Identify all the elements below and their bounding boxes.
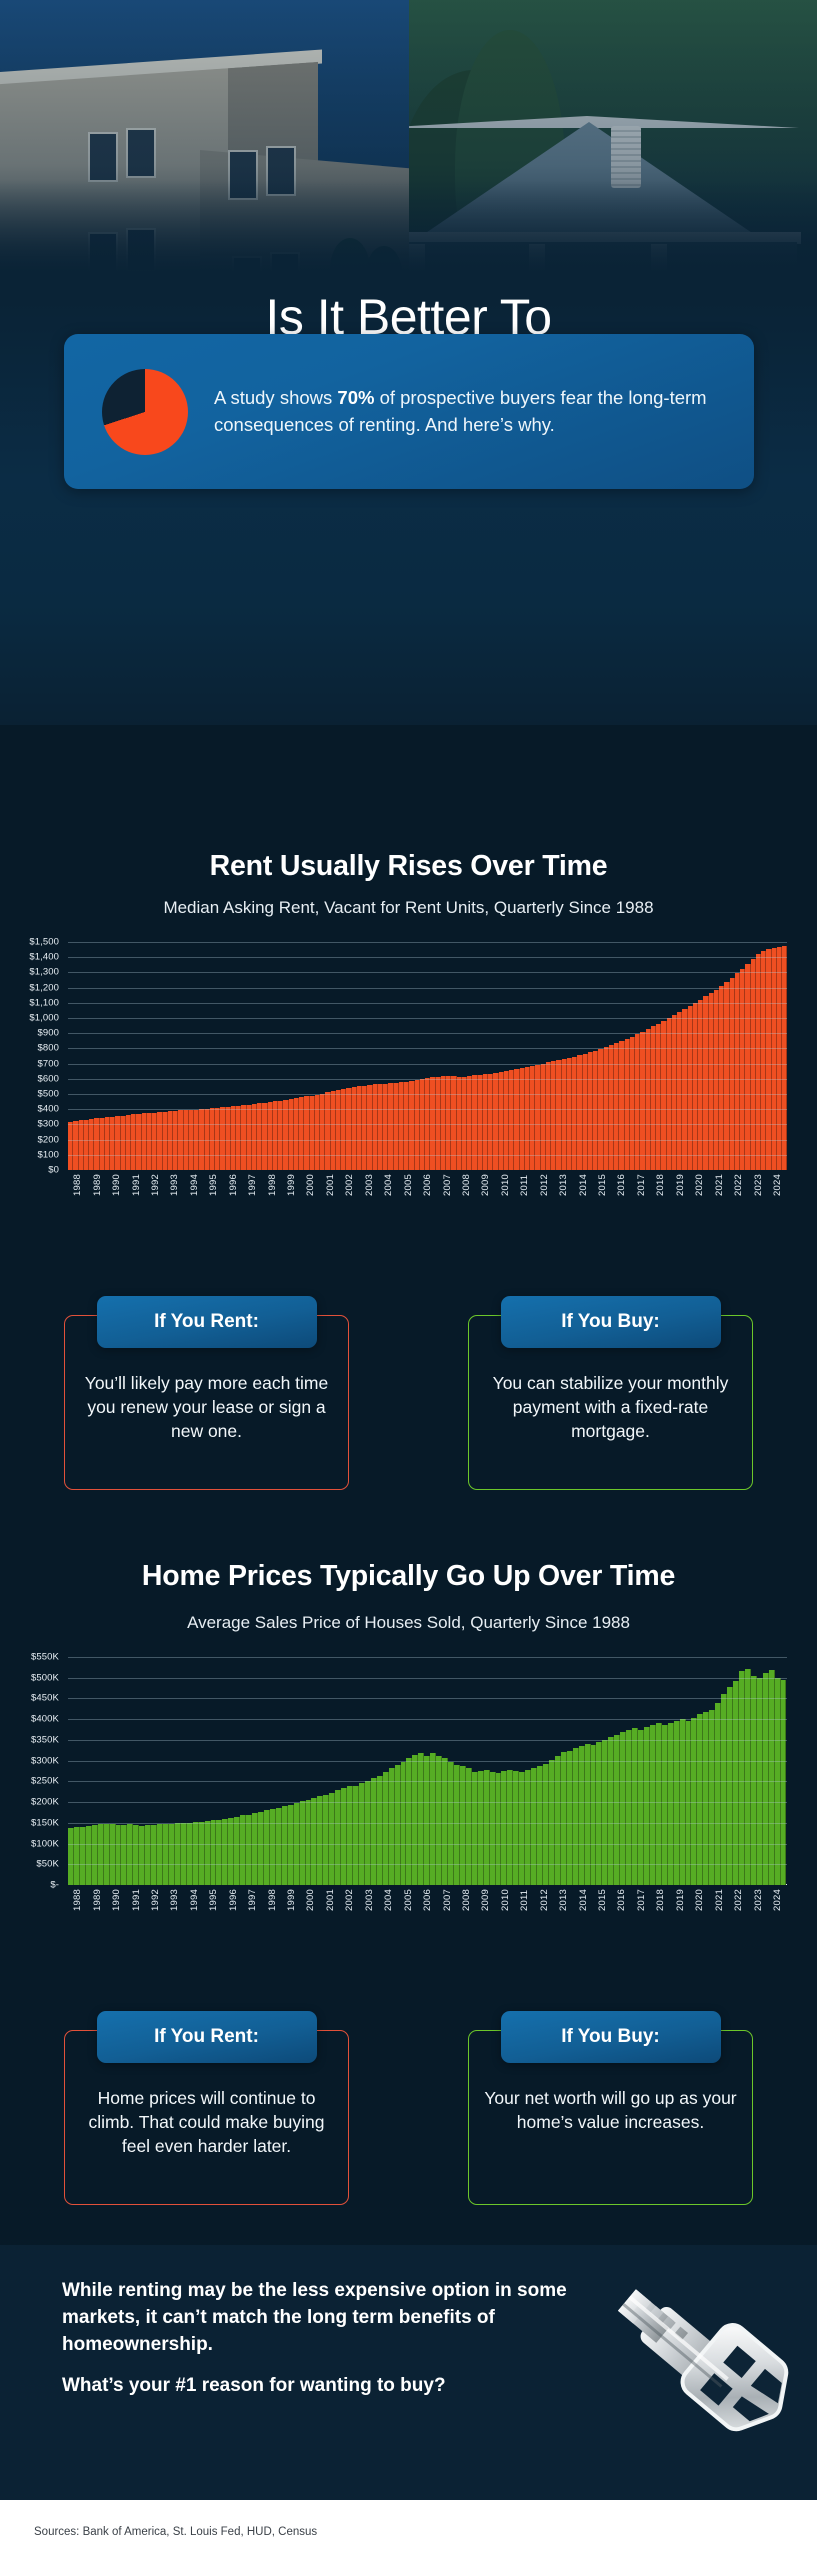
sources-text: Sources: Bank of America, St. Louis Fed,… xyxy=(34,2526,317,2538)
x-axis-tick: 2019 xyxy=(671,1889,690,1911)
x-axis-label: 1989 xyxy=(92,1174,103,1196)
callout-text: A study shows 70% of prospective buyers … xyxy=(214,385,716,438)
x-axis-label: 2000 xyxy=(305,1174,316,1196)
x-axis-tick: 2007 xyxy=(437,1889,456,1911)
x-axis-tick: 1997 xyxy=(243,1889,262,1911)
x-axis-tick: 2002 xyxy=(340,1889,359,1911)
x-axis-tick: 1998 xyxy=(262,1889,281,1911)
x-axis-tick: 1995 xyxy=(204,1889,223,1911)
x-axis-tick: 2010 xyxy=(496,1889,515,1911)
x-axis-label: 1999 xyxy=(286,1174,297,1196)
x-axis-tick: 1991 xyxy=(126,1174,145,1196)
x-axis-tick: 2001 xyxy=(321,1889,340,1911)
y-axis-label: $150K xyxy=(31,1817,59,1828)
x-axis-label: 1992 xyxy=(150,1174,161,1196)
x-axis-label: 2012 xyxy=(539,1174,550,1196)
gridline xyxy=(68,972,787,973)
x-axis-tick: 2013 xyxy=(554,1174,573,1196)
gridline xyxy=(68,1761,787,1762)
y-axis-label: $250K xyxy=(31,1776,59,1787)
x-axis-tick: 1999 xyxy=(282,1889,301,1911)
section-1-buy-heading: If You Buy: xyxy=(501,1296,721,1348)
chart-bar xyxy=(782,946,787,1170)
x-axis-tick: 1994 xyxy=(185,1889,204,1911)
callout-highlight: 70% xyxy=(337,387,374,408)
gridline xyxy=(68,1124,787,1125)
gridline xyxy=(68,1802,787,1803)
x-axis-label: 2016 xyxy=(616,1889,627,1911)
x-axis-label: 2007 xyxy=(442,1889,453,1911)
y-axis-label: $200 xyxy=(37,1134,59,1145)
x-axis-label: 2014 xyxy=(578,1174,589,1196)
house-key-icon xyxy=(590,2245,817,2495)
x-axis-tick: 2005 xyxy=(398,1174,417,1196)
section-1-rent-body: You’ll likely pay more each time you ren… xyxy=(79,1372,334,1443)
x-axis-tick: 2003 xyxy=(360,1889,379,1911)
x-axis-tick: 2016 xyxy=(612,1889,631,1911)
y-axis-label: $500K xyxy=(31,1672,59,1683)
x-axis-label: 2008 xyxy=(461,1889,472,1911)
y-axis-label: $100 xyxy=(37,1149,59,1160)
x-axis-label: 2018 xyxy=(655,1889,666,1911)
x-axis-tick: 2013 xyxy=(554,1889,573,1911)
y-axis-label: $300 xyxy=(37,1119,59,1130)
y-axis-label: $800 xyxy=(37,1043,59,1054)
x-axis-tick: 1998 xyxy=(262,1174,281,1196)
x-axis-label: 2022 xyxy=(733,1174,744,1196)
x-axis-tick: 2022 xyxy=(729,1174,748,1196)
x-axis-tick: 1993 xyxy=(165,1174,184,1196)
x-axis-label: 1994 xyxy=(189,1889,200,1911)
y-axis-label: $500 xyxy=(37,1089,59,1100)
x-axis-tick: 1989 xyxy=(87,1889,106,1911)
x-axis-label: 1996 xyxy=(228,1174,239,1196)
x-axis-label: 2002 xyxy=(344,1174,355,1196)
y-axis-label: $400 xyxy=(37,1104,59,1115)
x-axis-label: 2006 xyxy=(422,1174,433,1196)
gridline xyxy=(68,1155,787,1156)
x-axis-label: 2016 xyxy=(616,1174,627,1196)
x-axis-tick: 1995 xyxy=(204,1174,223,1196)
x-axis-tick: 2015 xyxy=(593,1174,612,1196)
x-axis-tick: 2008 xyxy=(457,1889,476,1911)
x-axis-label: 2004 xyxy=(383,1174,394,1196)
sources-bar: Sources: Bank of America, St. Louis Fed,… xyxy=(0,2500,817,2560)
section-2-buy-body: Your net worth will go up as your home’s… xyxy=(483,2087,738,2135)
x-axis-tick: 2019 xyxy=(671,1174,690,1196)
x-axis-tick: 2008 xyxy=(457,1174,476,1196)
x-axis-label: 2019 xyxy=(675,1889,686,1911)
gridline xyxy=(68,1698,787,1699)
hero-image xyxy=(0,0,817,300)
gridline xyxy=(68,1018,787,1019)
y-axis-label: $1,000 xyxy=(29,1013,59,1024)
x-axis-tick: 2011 xyxy=(515,1174,534,1196)
callout-text-before: A study shows xyxy=(214,387,337,408)
gridline xyxy=(68,1719,787,1720)
x-axis-label: 1991 xyxy=(131,1174,142,1196)
x-axis-label: 1988 xyxy=(72,1889,83,1911)
section-2-buy-box: If You Buy: Your net worth will go up as… xyxy=(468,2030,753,2205)
x-axis-label: 1993 xyxy=(169,1889,180,1911)
x-axis-label: 2023 xyxy=(753,1889,764,1911)
section-2-rent-body: Home prices will continue to climb. That… xyxy=(79,2087,334,2158)
x-axis-tick: 2022 xyxy=(729,1889,748,1911)
x-axis-tick: 2004 xyxy=(379,1889,398,1911)
x-axis-label: 2024 xyxy=(772,1174,783,1196)
gridline xyxy=(68,1678,787,1679)
x-axis-label: 2011 xyxy=(519,1889,530,1911)
x-axis-tick: 2012 xyxy=(535,1889,554,1911)
x-axis-tick: 2010 xyxy=(496,1174,515,1196)
x-axis-tick: 1989 xyxy=(87,1174,106,1196)
x-axis-tick: 2007 xyxy=(437,1174,456,1196)
x-axis-tick: 2024 xyxy=(768,1889,787,1911)
gridline xyxy=(68,1033,787,1034)
x-axis-label: 1994 xyxy=(189,1174,200,1196)
x-axis-label: 2015 xyxy=(597,1889,608,1911)
y-axis-label: $0 xyxy=(48,1165,59,1176)
y-axis-label: $350K xyxy=(31,1734,59,1745)
gridline xyxy=(68,1781,787,1782)
y-axis-label: $300K xyxy=(31,1755,59,1766)
x-axis-label: 1991 xyxy=(131,1889,142,1911)
gridline xyxy=(68,1064,787,1065)
x-axis-label: 2018 xyxy=(655,1174,666,1196)
x-axis-tick: 2016 xyxy=(612,1174,631,1196)
x-axis-tick: 1990 xyxy=(107,1889,126,1911)
x-axis-label: 2005 xyxy=(403,1889,414,1911)
x-axis-tick: 2024 xyxy=(768,1174,787,1196)
x-axis-tick: 2023 xyxy=(748,1174,767,1196)
x-axis-label: 2009 xyxy=(480,1174,491,1196)
gridline xyxy=(68,1823,787,1824)
x-axis-label: 2007 xyxy=(442,1174,453,1196)
x-axis-label: 2022 xyxy=(733,1889,744,1911)
y-axis-label: $600 xyxy=(37,1073,59,1084)
x-axis-tick: 1990 xyxy=(107,1174,126,1196)
rent-bar-chart: 1988198919901991199219931994199519961997… xyxy=(0,942,817,1262)
gridline xyxy=(68,1864,787,1865)
section-1-buy-body: You can stabilize your monthly payment w… xyxy=(483,1372,738,1443)
x-axis-label: 2003 xyxy=(364,1889,375,1911)
home-price-bar-chart: 1988198919901991199219931994199519961997… xyxy=(0,1657,817,1977)
section-1-subtitle: Median Asking Rent, Vacant for Rent Unit… xyxy=(0,898,817,918)
y-axis-label: $1,500 xyxy=(29,937,59,948)
x-axis-label: 2003 xyxy=(364,1174,375,1196)
section-1-title: Rent Usually Rises Over Time xyxy=(0,850,817,883)
x-axis-tick: 1992 xyxy=(146,1174,165,1196)
x-axis-label: 2001 xyxy=(325,1174,336,1196)
chart-bar xyxy=(781,1680,787,1885)
x-axis-tick: 2002 xyxy=(340,1174,359,1196)
x-axis-label: 2004 xyxy=(383,1889,394,1911)
x-axis-label: 2000 xyxy=(305,1889,316,1911)
x-axis-label: 2023 xyxy=(753,1174,764,1196)
x-axis-tick: 2000 xyxy=(301,1174,320,1196)
gridline xyxy=(68,957,787,958)
section-1-buy-box: If You Buy: You can stabilize your month… xyxy=(468,1315,753,1490)
y-axis-label: $1,100 xyxy=(29,997,59,1008)
x-axis-label: 1990 xyxy=(111,1889,122,1911)
x-axis-label: 1997 xyxy=(247,1889,258,1911)
x-axis-label: 2005 xyxy=(403,1174,414,1196)
x-axis-tick: 2021 xyxy=(709,1174,728,1196)
x-axis-tick: 1992 xyxy=(146,1889,165,1911)
x-axis-tick: 1996 xyxy=(224,1174,243,1196)
x-axis-tick: 2004 xyxy=(379,1174,398,1196)
y-axis-label: $1,300 xyxy=(29,967,59,978)
x-axis-tick: 1994 xyxy=(185,1174,204,1196)
gridline xyxy=(68,1844,787,1845)
gridline xyxy=(68,988,787,989)
x-axis-tick: 2017 xyxy=(632,1174,651,1196)
gridline xyxy=(68,1740,787,1741)
x-axis-label: 2001 xyxy=(325,1889,336,1911)
x-axis-tick: 2020 xyxy=(690,1889,709,1911)
x-axis-label: 1997 xyxy=(247,1174,258,1196)
x-axis-tick: 2009 xyxy=(476,1889,495,1911)
footer-question: What’s your #1 reason for wanting to buy… xyxy=(62,2375,622,2397)
gridline xyxy=(68,1140,787,1141)
x-axis-tick: 1999 xyxy=(282,1174,301,1196)
x-axis-label: 1999 xyxy=(286,1889,297,1911)
x-axis-label: 2020 xyxy=(694,1174,705,1196)
x-axis-tick: 2003 xyxy=(360,1174,379,1196)
x-axis-tick: 2014 xyxy=(573,1889,592,1911)
y-axis-label: $1,400 xyxy=(29,952,59,963)
pie-chart-icon xyxy=(102,369,188,455)
x-axis-label: 2021 xyxy=(714,1889,725,1911)
x-axis-tick: 2000 xyxy=(301,1889,320,1911)
y-axis-label: $100K xyxy=(31,1838,59,1849)
x-axis-tick: 2011 xyxy=(515,1889,534,1911)
gridline xyxy=(68,942,787,943)
gridline xyxy=(68,1048,787,1049)
x-axis-label: 2014 xyxy=(578,1889,589,1911)
x-axis-label: 2015 xyxy=(597,1174,608,1196)
x-axis-tick: 1988 xyxy=(68,1174,87,1196)
section-2-buy-heading: If You Buy: xyxy=(501,2011,721,2063)
x-axis-label: 1988 xyxy=(72,1174,83,1196)
section-1-rent-box: If You Rent: You’ll likely pay more each… xyxy=(64,1315,349,1490)
y-axis-label: $900 xyxy=(37,1028,59,1039)
x-axis-tick: 2020 xyxy=(690,1174,709,1196)
x-axis-label: 1996 xyxy=(228,1889,239,1911)
section-2-subtitle: Average Sales Price of Houses Sold, Quar… xyxy=(0,1613,817,1633)
section-2-rent-heading: If You Rent: xyxy=(97,2011,317,2063)
x-axis-tick: 2005 xyxy=(398,1889,417,1911)
gridline xyxy=(68,1003,787,1004)
x-axis-label: 2024 xyxy=(772,1889,783,1911)
x-axis-label: 1990 xyxy=(111,1174,122,1196)
study-callout: A study shows 70% of prospective buyers … xyxy=(64,334,754,489)
x-axis-label: 1989 xyxy=(92,1889,103,1911)
x-axis-label: 2017 xyxy=(636,1889,647,1911)
x-axis-label: 2021 xyxy=(714,1174,725,1196)
x-axis-label: 2009 xyxy=(480,1889,491,1911)
x-axis-tick: 2006 xyxy=(418,1174,437,1196)
footer-statement: While renting may be the less expensive … xyxy=(62,2278,582,2359)
y-axis-label: $400K xyxy=(31,1714,59,1725)
x-axis-tick: 2018 xyxy=(651,1889,670,1911)
x-axis-tick: 1991 xyxy=(126,1889,145,1911)
x-axis-tick: 2009 xyxy=(476,1174,495,1196)
x-axis-label: 1995 xyxy=(208,1889,219,1911)
x-axis-tick: 2012 xyxy=(535,1174,554,1196)
x-axis-tick: 1993 xyxy=(165,1889,184,1911)
x-axis-label: 2019 xyxy=(675,1174,686,1196)
x-axis-tick: 1997 xyxy=(243,1174,262,1196)
x-axis-tick: 2001 xyxy=(321,1174,340,1196)
section-1-rent-heading: If You Rent: xyxy=(97,1296,317,1348)
x-axis-tick: 1988 xyxy=(68,1889,87,1911)
gridline xyxy=(68,1657,787,1658)
x-axis-tick: 2023 xyxy=(748,1889,767,1911)
x-axis-label: 2008 xyxy=(461,1174,472,1196)
x-axis-label: 1993 xyxy=(169,1174,180,1196)
y-axis-label: $550K xyxy=(31,1652,59,1663)
x-axis-label: 2013 xyxy=(558,1174,569,1196)
gridline xyxy=(68,1109,787,1110)
x-axis-label: 2006 xyxy=(422,1889,433,1911)
x-axis-label: 1998 xyxy=(267,1174,278,1196)
x-axis-label: 2013 xyxy=(558,1889,569,1911)
x-axis-label: 2011 xyxy=(519,1174,530,1196)
section-2-title: Home Prices Typically Go Up Over Time xyxy=(0,1560,817,1593)
x-axis-tick: 2018 xyxy=(651,1174,670,1196)
y-axis-label: $200K xyxy=(31,1797,59,1808)
x-axis-tick: 2021 xyxy=(709,1889,728,1911)
x-axis-tick: 2015 xyxy=(593,1889,612,1911)
x-axis-label: 1998 xyxy=(267,1889,278,1911)
x-axis-label: 2012 xyxy=(539,1889,550,1911)
y-axis-label: $450K xyxy=(31,1693,59,1704)
x-axis-label: 2017 xyxy=(636,1174,647,1196)
x-axis-label: 2020 xyxy=(694,1889,705,1911)
y-axis-label: $- xyxy=(50,1880,59,1891)
x-axis-label: 1992 xyxy=(150,1889,161,1911)
x-axis-label: 1995 xyxy=(208,1174,219,1196)
y-axis-label: $1,200 xyxy=(29,982,59,993)
y-axis-label: $50K xyxy=(36,1859,59,1870)
gridline xyxy=(68,1079,787,1080)
x-axis-tick: 2017 xyxy=(632,1889,651,1911)
y-axis-label: $700 xyxy=(37,1058,59,1069)
x-axis-label: 2010 xyxy=(500,1889,511,1911)
x-axis-label: 2002 xyxy=(344,1889,355,1911)
x-axis-tick: 2006 xyxy=(418,1889,437,1911)
x-axis-tick: 1996 xyxy=(224,1889,243,1911)
section-2-rent-box: If You Rent: Home prices will continue t… xyxy=(64,2030,349,2205)
x-axis-tick: 2014 xyxy=(573,1174,592,1196)
x-axis-label: 2010 xyxy=(500,1174,511,1196)
gridline xyxy=(68,1094,787,1095)
